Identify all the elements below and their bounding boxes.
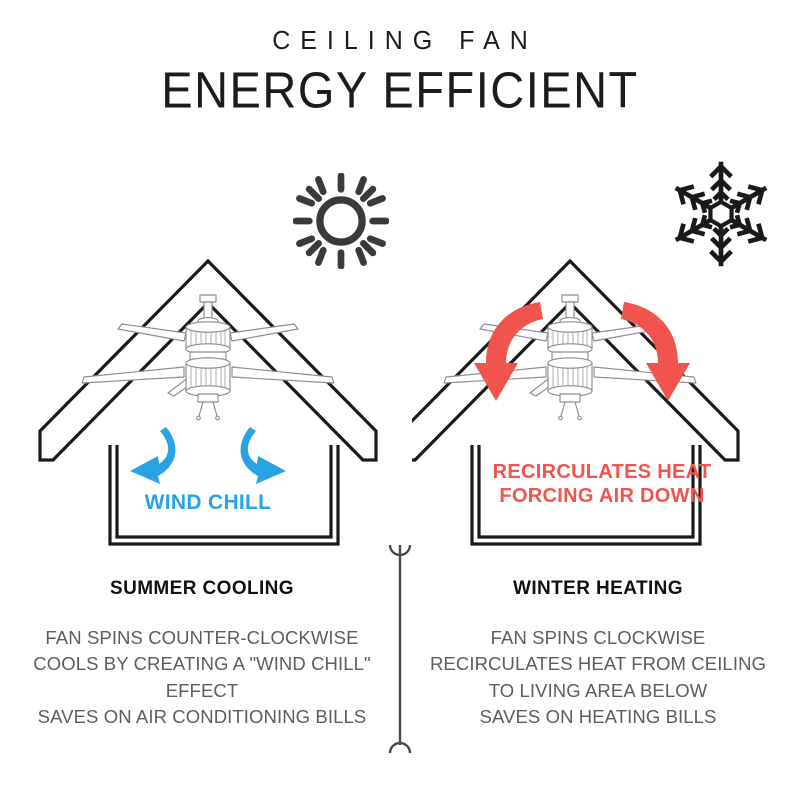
infographic-page: CEILING FAN ENERGY EFFICIENT [0,0,800,800]
eyebrow-title: CEILING FAN [0,28,800,56]
summer-caption-body: FAN SPINS COUNTER-CLOCKWISE COOLS BY CRE… [16,625,388,730]
summer-inside-label: WIND CHILL [18,491,398,516]
winter-caption-line-2: RECIRCULATES HEAT FROM CEILING TO LIVING… [412,651,784,704]
winter-caption-body: FAN SPINS CLOCKWISE RECIRCULATES HEAT FR… [412,625,784,730]
airflow-arrows-summer [130,427,286,484]
summer-caption-line-3: SAVES ON AIR CONDITIONING BILLS [16,704,388,730]
summer-caption-heading: SUMMER COOLING [16,578,388,600]
winter-inside-label: RECIRCULATES HEAT FORCING AIR DOWN [412,461,792,508]
winter-caption-heading: WINTER HEATING [412,578,784,600]
summer-caption-line-2: COOLS BY CREATING A "WIND CHILL" EFFECT [16,651,388,704]
winter-house-diagram [412,255,792,555]
snowflake-icon [665,158,777,270]
winter-caption: WINTER HEATING FAN SPINS CLOCKWISE RECIR… [412,578,784,730]
winter-caption-line-3: SAVES ON HEATING BILLS [412,704,784,730]
summer-caption-line-1: FAN SPINS COUNTER-CLOCKWISE [16,625,388,651]
winter-inside-label-line-1: RECIRCULATES HEAT [412,461,792,485]
header: CEILING FAN ENERGY EFFICIENT [0,28,800,114]
winter-inside-label-line-2: FORCING AIR DOWN [412,485,792,509]
winter-caption-line-1: FAN SPINS CLOCKWISE [412,625,784,651]
page-title: ENERGY EFFICIENT [0,63,800,116]
summer-caption: SUMMER COOLING FAN SPINS COUNTER-CLOCKWI… [16,578,388,730]
